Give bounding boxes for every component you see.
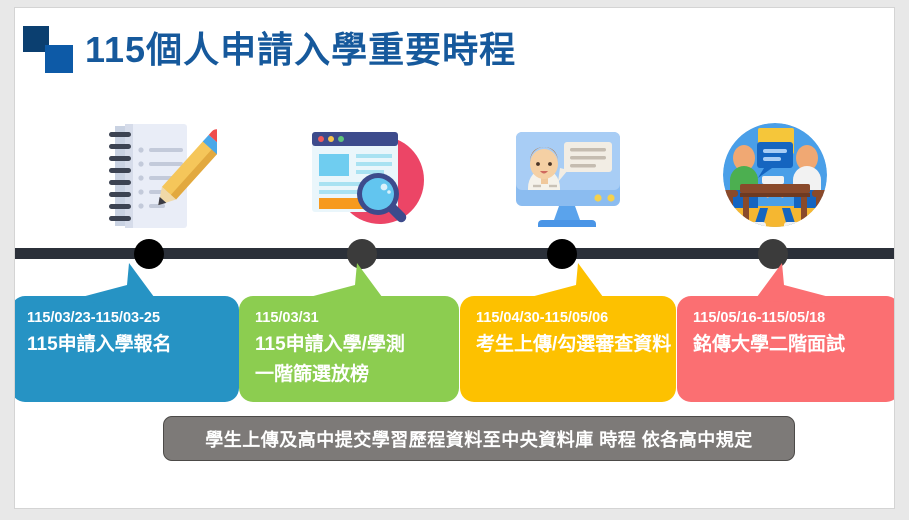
footer-note-bar: 學生上傳及高中提交學習歷程資料至中央資料庫 時程 依各高中規定	[163, 416, 795, 461]
decoration-square-light	[45, 45, 73, 73]
milestone-card-4[interactable]: 115/05/16-115/05/18 銘傳大學二階面試	[677, 296, 895, 402]
milestone-text-4-0: 銘傳大學二階面試	[693, 330, 886, 360]
callout-tail-3	[508, 263, 623, 303]
callout-tail-4	[737, 263, 852, 303]
footer-note-text: 學生上傳及高中提交學習歷程資料至中央資料庫 時程 依各高中規定	[205, 426, 753, 452]
page-title: 115個人申請入學重要時程	[85, 20, 516, 80]
callout-tail-2	[287, 263, 402, 303]
milestone-card-1[interactable]: 115/03/23-115/03-25 115申請入學報名	[14, 296, 239, 402]
interview-table-icon	[710, 118, 840, 233]
milestone-text-2-1: 一階篩選放榜	[255, 360, 445, 390]
milestone-date-1: 115/03/23-115/03-25	[27, 308, 225, 328]
milestone-date-3: 115/04/30-115/05/06	[476, 308, 662, 328]
monitor-person-icon	[502, 118, 632, 233]
milestone-card-2[interactable]: 115/03/31 115申請入學/學測 一階篩選放榜	[239, 296, 459, 402]
milestone-text-1-0: 115申請入學報名	[27, 330, 225, 360]
milestone-card-3[interactable]: 115/04/30-115/05/06 考生上傳/勾選審查資料	[460, 296, 676, 402]
slide-canvas: 115個人申請入學重要時程	[14, 7, 895, 509]
title-block: 115個人申請入學重要時程	[15, 18, 895, 88]
milestone-text-2-0: 115申請入學/學測	[255, 330, 445, 360]
callout-tail-1	[59, 263, 174, 303]
milestone-date-4: 115/05/16-115/05/18	[693, 308, 886, 328]
milestone-date-2: 115/03/31	[255, 308, 445, 328]
browser-search-icon	[300, 118, 430, 233]
notepad-pencil-icon	[87, 118, 217, 233]
milestone-text-3-0: 考生上傳/勾選審查資料	[476, 330, 662, 360]
